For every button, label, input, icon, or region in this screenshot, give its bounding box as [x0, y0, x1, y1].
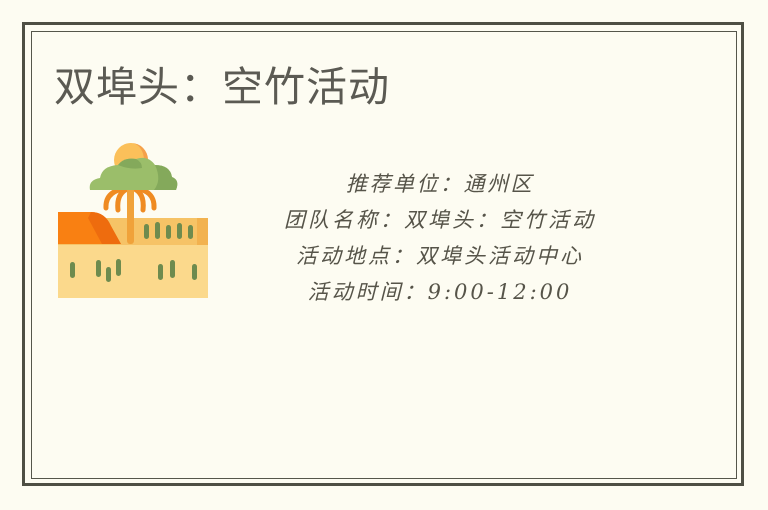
event-details: 推荐单位：通州区 团队名称：双埠头：空竹活动 活动地点：双埠头活动中心 活动时间… — [210, 166, 670, 310]
page-title: 双埠头：空竹活动 — [54, 61, 390, 113]
tree-trunk — [127, 186, 134, 244]
detail-line-time: 活动时间：9:00-12:00 — [210, 274, 670, 310]
event-card: 双埠头：空竹活动 — [0, 0, 768, 510]
sand-light-band — [58, 244, 208, 298]
detail-line-location: 活动地点：双埠头活动中心 — [210, 238, 670, 274]
tree-canopy — [90, 158, 178, 190]
detail-line-team: 团队名称：双埠头：空竹活动 — [210, 202, 670, 238]
sand-mid-edge — [197, 218, 208, 245]
detail-line-unit: 推荐单位：通州区 — [210, 166, 670, 202]
savanna-scene-illustration — [58, 140, 208, 298]
